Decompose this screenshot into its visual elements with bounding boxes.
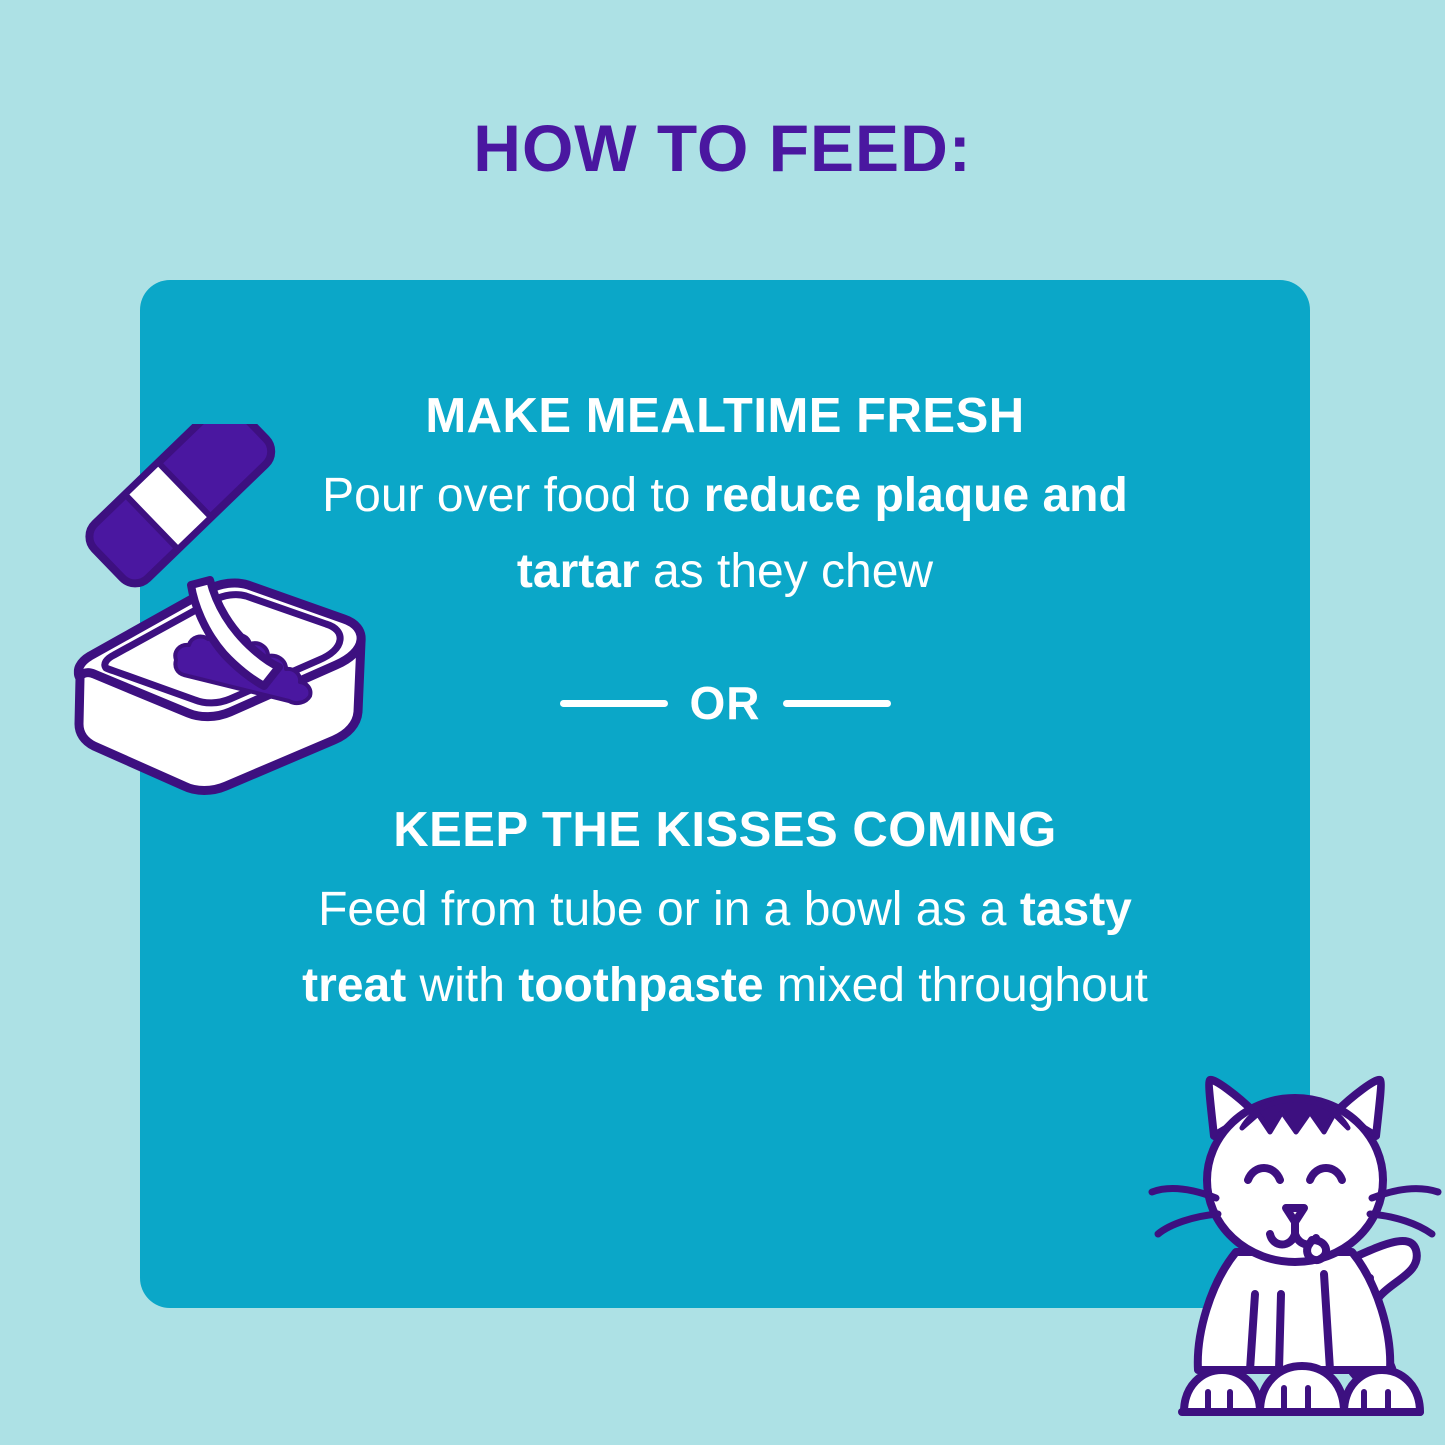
section-body-text-1: Feed from tube or in a bowl as a [318,883,1020,936]
or-divider: OR [475,676,975,730]
section-body-text-3: mixed throughout [764,959,1148,1012]
section-body-text-2: with [406,959,518,1012]
instruction-section-keep-the-kisses-coming: KEEP THE KISSES COMING Feed from tube or… [295,802,1155,1024]
section-body-emphasis-2: toothpaste [518,959,763,1012]
divider-line-left [560,700,668,707]
instruction-section-make-mealtime-fresh: MAKE MEALTIME FRESH Pour over food to re… [295,388,1155,610]
section-body-text-2: as they chew [640,545,933,598]
divider-label: OR [690,676,761,730]
divider-line-right [783,700,891,707]
section-heading: KEEP THE KISSES COMING [295,802,1155,858]
section-body: Pour over food to reduce plaque and tart… [295,458,1155,610]
section-heading: MAKE MEALTIME FRESH [295,388,1155,444]
feed-instructions-content: MAKE MEALTIME FRESH Pour over food to re… [140,280,1310,1308]
section-body-text-1: Pour over food to [322,469,704,522]
page-title: HOW TO FEED: [0,112,1445,185]
poster-canvas: HOW TO FEED: MAKE MEALTIME FRESH Pour ov… [0,0,1445,1445]
section-body: Feed from tube or in a bowl as a tasty t… [295,872,1155,1024]
